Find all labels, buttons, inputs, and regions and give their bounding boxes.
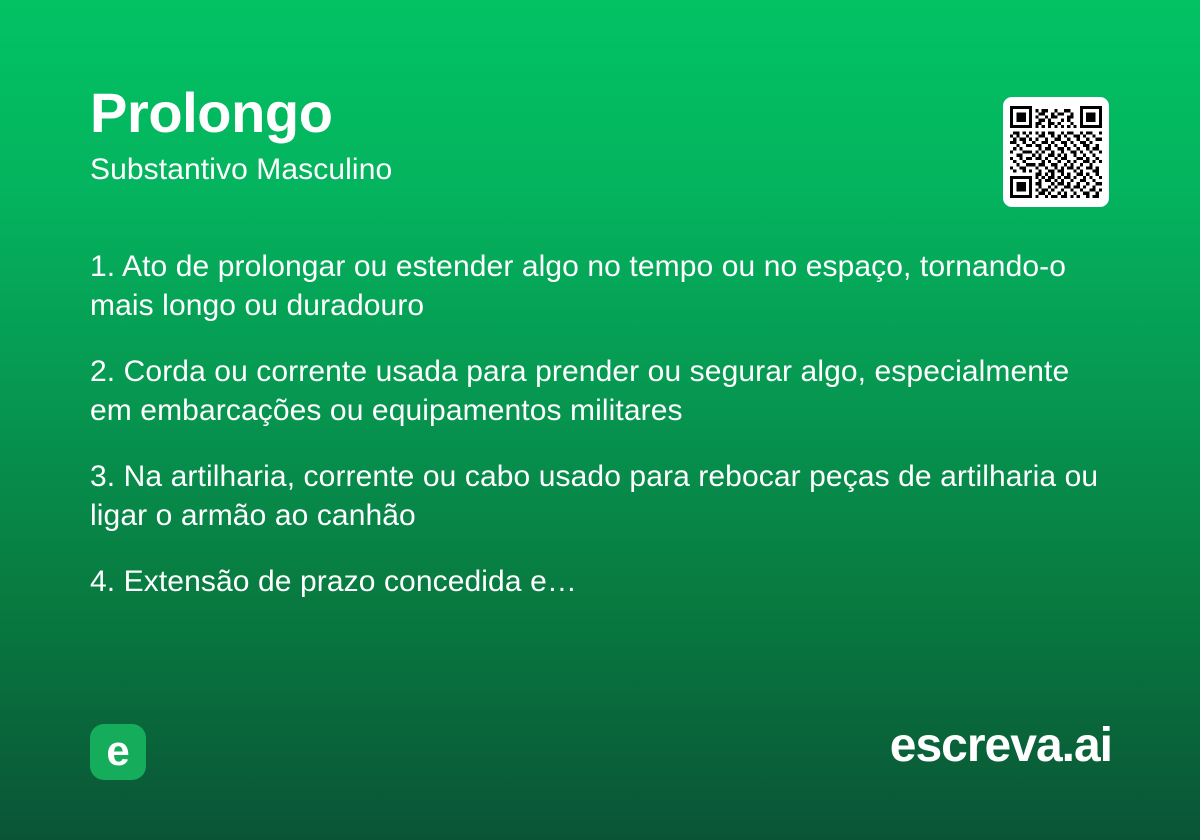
page-title: Prolongo xyxy=(90,82,910,145)
definition-item: 2. Corda ou corrente usada para prender … xyxy=(90,352,1100,430)
brand-wordmark: escreva.ai xyxy=(890,722,1112,770)
definition-item: 1. Ato de prolongar ou estender algo no … xyxy=(90,247,1100,325)
qr-code-panel[interactable] xyxy=(1003,97,1109,207)
dictionary-card: Prolongo Substantivo Masculino xyxy=(0,0,1200,840)
brand-logo-letter: e xyxy=(106,730,129,772)
brand-logo-badge: e xyxy=(90,724,146,780)
card-header: Prolongo Substantivo Masculino xyxy=(90,82,910,188)
qr-code-icon xyxy=(1010,106,1102,198)
definition-item: 3. Na artilharia, corrente ou cabo usado… xyxy=(90,457,1100,535)
definition-item: 4. Extensão de prazo concedida e… xyxy=(90,562,1100,601)
definition-list: 1. Ato de prolongar ou estender algo no … xyxy=(90,247,1100,601)
word-class-label: Substantivo Masculino xyxy=(90,151,910,189)
